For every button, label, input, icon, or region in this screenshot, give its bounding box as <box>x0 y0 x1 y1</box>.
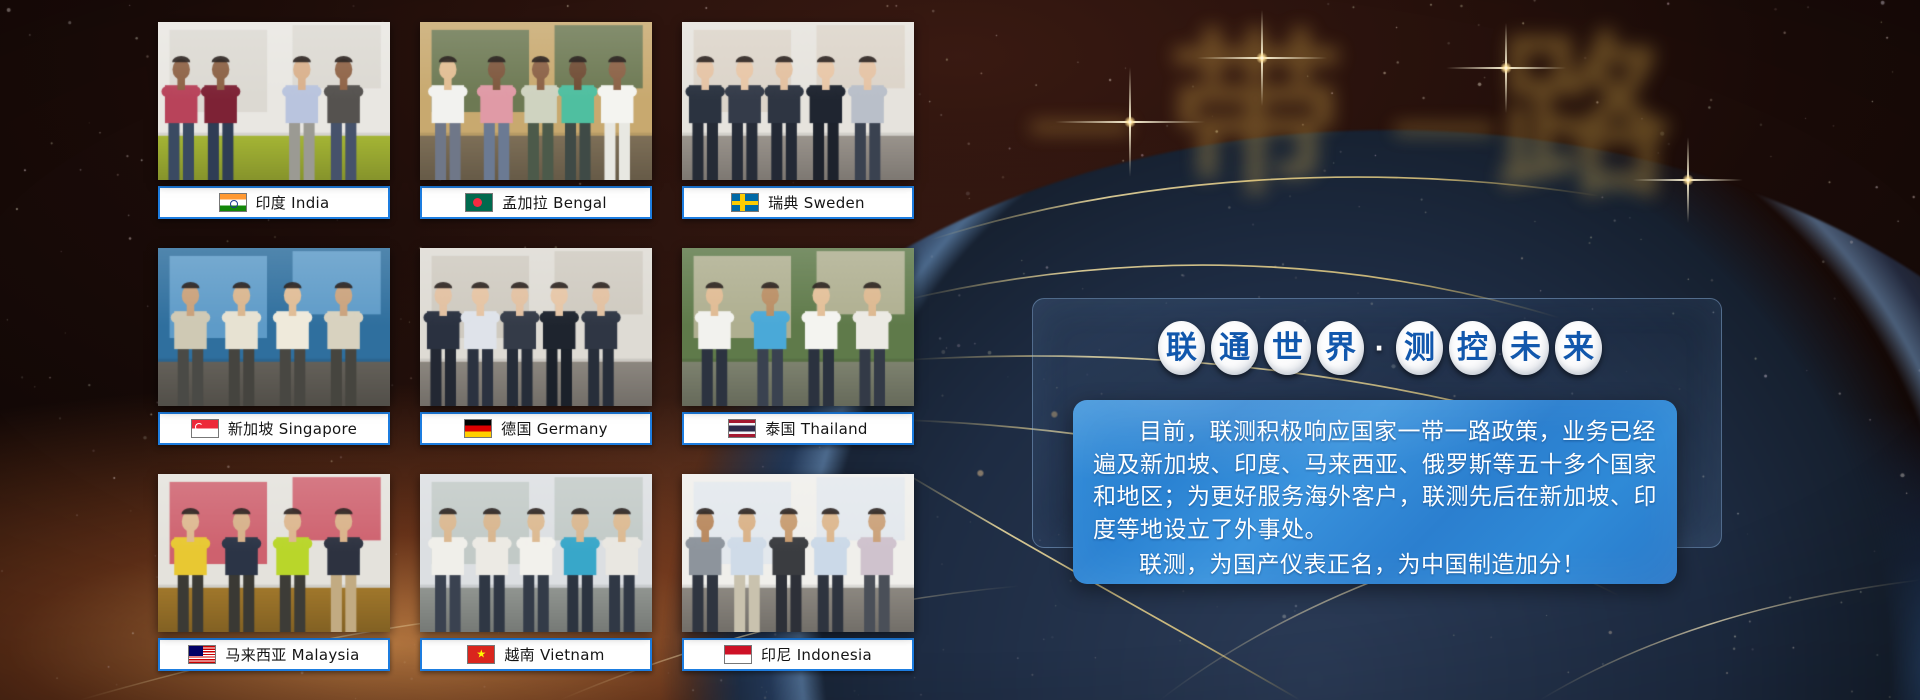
photo-cell-bengal[interactable]: 孟加拉 Bengal <box>420 22 652 219</box>
caption-sweden: 瑞典 Sweden <box>682 186 914 219</box>
flag-thailand-icon <box>728 419 756 438</box>
slogan-bead-8: 来 <box>1555 321 1602 375</box>
photo-cell-indonesia[interactable]: 印尼 Indonesia <box>682 474 914 671</box>
photo-cell-vietnam[interactable]: 越南 Vietnam <box>420 474 652 671</box>
caption-indonesia: 印尼 Indonesia <box>682 638 914 671</box>
photo-indonesia <box>682 474 914 632</box>
photo-cell-malaysia[interactable]: 马来西亚 Malaysia <box>158 474 390 671</box>
calligraphy-char-3: 一 <box>1392 82 1496 186</box>
calligraphy-char-4: 路 <box>1496 30 1672 206</box>
photo-vietnam <box>420 474 652 632</box>
slogan-bead-3: 世 <box>1264 321 1311 375</box>
slogan-headline: 联通世界·测控未来 <box>1085 318 1675 378</box>
caption-label: 新加坡 Singapore <box>228 418 357 439</box>
flag-vietnam-icon <box>467 645 495 664</box>
caption-label: 印度 India <box>256 192 330 213</box>
calligraphy-char-2: 带 <box>1168 28 1344 204</box>
caption-germany: 德国 Germany <box>420 412 652 445</box>
country-photo-grid: 印度 India孟加拉 Bengal瑞典 Sweden新加坡 Singapore… <box>158 22 914 686</box>
photo-cell-germany[interactable]: 德国 Germany <box>420 248 652 445</box>
description-paragraph-1: 目前，联测积极响应国家一带一路政策，业务已经遍及新加坡、印度、马来西亚、俄罗斯等… <box>1073 400 1677 547</box>
flag-india-icon <box>219 193 247 212</box>
photo-cell-thailand[interactable]: 泰国 Thailand <box>682 248 914 445</box>
company-description-box: 目前，联测积极响应国家一带一路政策，业务已经遍及新加坡、印度、马来西亚、俄罗斯等… <box>1073 400 1677 584</box>
caption-india: 印度 India <box>158 186 390 219</box>
flag-indonesia-icon <box>724 645 752 664</box>
photo-thailand <box>682 248 914 406</box>
photo-sweden <box>682 22 914 180</box>
caption-bengal: 孟加拉 Bengal <box>420 186 652 219</box>
photo-cell-india[interactable]: 印度 India <box>158 22 390 219</box>
caption-label: 德国 Germany <box>501 418 608 439</box>
photo-cell-singapore[interactable]: 新加坡 Singapore <box>158 248 390 445</box>
slogan-bead-1: 联 <box>1158 321 1205 375</box>
caption-label: 越南 Vietnam <box>504 644 604 665</box>
photo-singapore <box>158 248 390 406</box>
photo-malaysia <box>158 474 390 632</box>
slogan-bead-7: 未 <box>1502 321 1549 375</box>
flag-sweden-icon <box>731 193 759 212</box>
flag-singapore-icon <box>191 419 219 438</box>
caption-label: 马来西亚 Malaysia <box>225 644 359 665</box>
belt-and-road-title: 一 带 一 路 <box>1020 8 1660 208</box>
slogan-bead-5: 测 <box>1396 321 1443 375</box>
calligraphy-char-1: 一 <box>1028 80 1132 184</box>
photo-bengal <box>420 22 652 180</box>
slogan-bead-6: 控 <box>1449 321 1496 375</box>
flag-germany-icon <box>464 419 492 438</box>
caption-label: 印尼 Indonesia <box>761 644 872 665</box>
slogan-bead-4: 界 <box>1317 321 1364 375</box>
caption-thailand: 泰国 Thailand <box>682 412 914 445</box>
description-paragraph-2: 联测，为国产仪表正名，为中国制造加分！ <box>1073 547 1677 582</box>
caption-label: 孟加拉 Bengal <box>502 192 607 213</box>
photo-germany <box>420 248 652 406</box>
flag-malaysia-icon <box>188 645 216 664</box>
slogan-bead-2: 通 <box>1211 321 1258 375</box>
photo-cell-sweden[interactable]: 瑞典 Sweden <box>682 22 914 219</box>
banner-root: 印度 India孟加拉 Bengal瑞典 Sweden新加坡 Singapore… <box>0 0 1920 700</box>
caption-singapore: 新加坡 Singapore <box>158 412 390 445</box>
caption-label: 瑞典 Sweden <box>768 192 865 213</box>
caption-vietnam: 越南 Vietnam <box>420 638 652 671</box>
caption-malaysia: 马来西亚 Malaysia <box>158 638 390 671</box>
slogan-separator: · <box>1370 332 1390 364</box>
photo-india <box>158 22 390 180</box>
caption-label: 泰国 Thailand <box>765 418 868 439</box>
flag-bangladesh-icon <box>465 193 493 212</box>
